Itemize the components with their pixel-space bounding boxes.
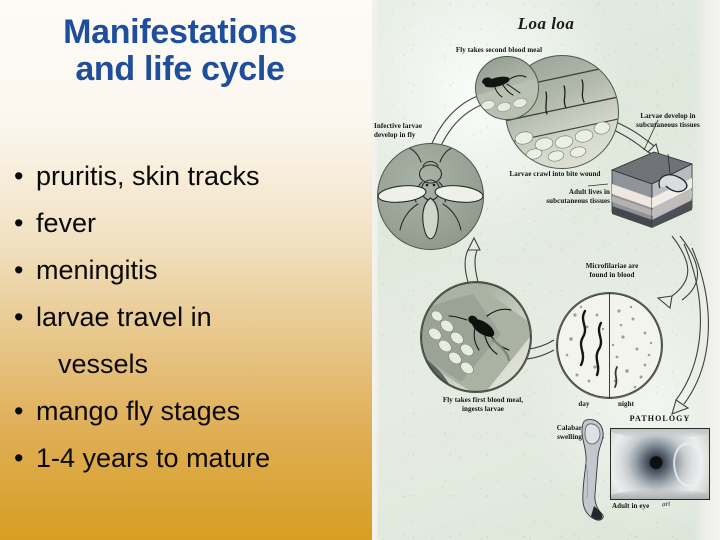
page-title-line-1: Manifestations: [0, 14, 360, 51]
label-second-blood-meal: Fly takes second blood meal: [424, 46, 574, 55]
list-item: • mango fly stages: [14, 398, 372, 445]
text-panel: Manifestations and life cycle • pruritis…: [0, 0, 372, 540]
list-item: • larvae travel in: [14, 304, 372, 351]
bullet-marker-icon: •: [14, 304, 36, 331]
label-microfilariae-in-blood: Microfilariae are found in blood: [560, 262, 664, 280]
page-title-line-2: and life cycle: [0, 51, 360, 88]
eye-worm-shape: [668, 440, 708, 490]
bullet-marker-icon: •: [14, 210, 36, 237]
list-item-label: vessels: [36, 351, 372, 378]
label-adult-in-eye: Adult in eye: [612, 502, 702, 511]
label-larvae-develop-subcutaneous: Larvae develop in subcutaneous tissues: [618, 112, 718, 130]
illustration-subcutaneous-tissue-block: [608, 150, 694, 232]
illustration-calabar-swelling-leg: [572, 418, 612, 523]
label-first-blood-meal: Fly takes first blood meal, ingests larv…: [408, 396, 558, 414]
list-item-label: mango fly stages: [36, 398, 372, 425]
life-cycle-figure: Loa loa: [372, 0, 720, 540]
list-item: • pruritis, skin tracks: [14, 163, 372, 210]
list-item-label: fever: [36, 210, 372, 237]
figure-title: Loa loa: [372, 14, 720, 34]
illustration-first-blood-meal: [420, 281, 532, 393]
list-item-label: meningitis: [36, 257, 372, 284]
bullet-marker-icon: •: [14, 163, 36, 190]
label-infective-larvae: Infective larvae develop in fly: [374, 122, 460, 140]
photo-adult-worm-in-eye: [610, 428, 710, 500]
list-item-label: pruritis, skin tracks: [36, 163, 372, 190]
bullet-marker-icon: •: [14, 257, 36, 284]
slide: Manifestations and life cycle • pruritis…: [0, 0, 720, 540]
illustration-infective-larvae-fly: [377, 143, 484, 250]
bullet-list: • pruritis, skin tracks • fever • mening…: [14, 163, 372, 492]
label-day: day: [568, 400, 600, 409]
eye-lower-lid: [610, 489, 710, 500]
list-item: • 1-4 years to mature: [14, 445, 372, 492]
list-item-continuation: vessels: [14, 351, 372, 398]
paper-left-edge: [372, 0, 379, 540]
illustration-second-blood-meal: [475, 56, 539, 120]
label-night: night: [608, 400, 644, 409]
label-pathology: PATHOLOGY: [604, 414, 716, 423]
list-item-label: 1-4 years to mature: [36, 445, 372, 472]
eye-upper-lid: [610, 428, 710, 439]
illustration-blood-smear-microfilariae: [556, 292, 663, 399]
artist-signature: art: [662, 500, 671, 509]
list-item-label: larvae travel in: [36, 304, 372, 331]
page-title: Manifestations and life cycle: [0, 14, 360, 87]
bullet-marker-icon: •: [14, 445, 36, 472]
list-item: • fever: [14, 210, 372, 257]
bullet-marker-icon: •: [14, 398, 36, 425]
list-item: • meningitis: [14, 257, 372, 304]
label-adult-lives-subcutaneous: Adult lives in subcutaneous tissues: [520, 188, 610, 206]
